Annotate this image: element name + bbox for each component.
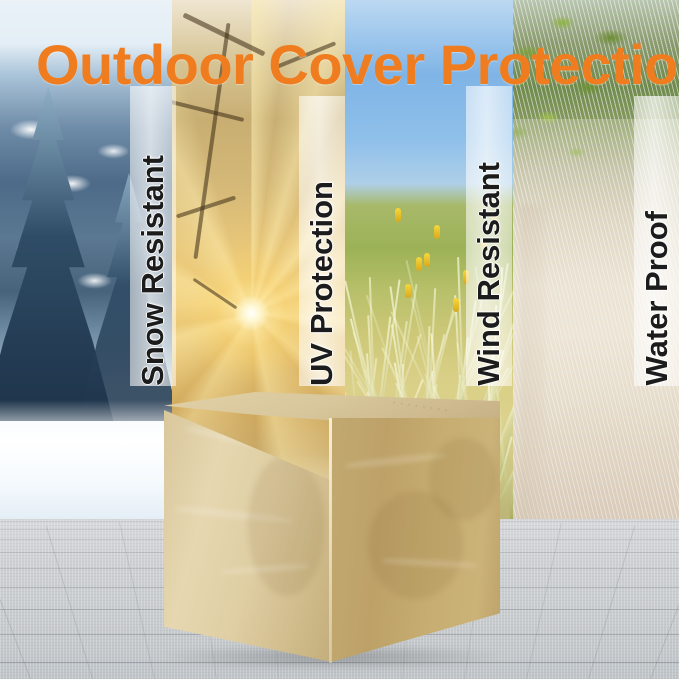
product-feature-banner: · · · · · · · · Outdoor Cover Protection…: [0, 0, 679, 679]
feature-label-wind-text: Wind Resistant: [471, 160, 507, 386]
dune-flower-icon: [416, 257, 422, 271]
dune-flower-icon: [424, 253, 430, 267]
feature-label-wind: Wind Resistant: [466, 86, 512, 386]
feature-label-water: Water Proof: [634, 96, 679, 386]
cover-right-face: [331, 418, 500, 662]
cover-front-corner-edge: [329, 418, 332, 663]
page-title: Outdoor Cover Protection: [36, 36, 650, 94]
cover-crease: [184, 424, 288, 453]
tile-seam: [526, 523, 562, 679]
tree-branch-icon: [193, 277, 238, 309]
dune-flower-icon: [453, 298, 459, 312]
cover-left-face: [164, 410, 332, 662]
cover-fold-shade: [248, 455, 325, 596]
dune-flower-icon: [434, 225, 440, 239]
feature-label-water-text: Water Proof: [639, 209, 675, 386]
dune-flower-icon: [395, 208, 401, 222]
cover-fold-shade: [429, 438, 497, 521]
tree-branch-icon: [172, 98, 244, 122]
tile-seam: [588, 526, 635, 679]
tile-seam: [119, 523, 155, 679]
feature-label-uv-text: UV Protection: [304, 179, 340, 386]
tile-seam: [45, 526, 92, 679]
feature-label-snow-text: Snow Resistant: [135, 153, 171, 386]
feature-label-uv: UV Protection: [299, 96, 345, 386]
feature-label-snow: Snow Resistant: [130, 86, 176, 386]
tree-branch-icon: [176, 196, 236, 219]
dune-flower-icon: [405, 284, 411, 298]
furniture-cover-product: · · · · · · · ·: [164, 392, 500, 662]
